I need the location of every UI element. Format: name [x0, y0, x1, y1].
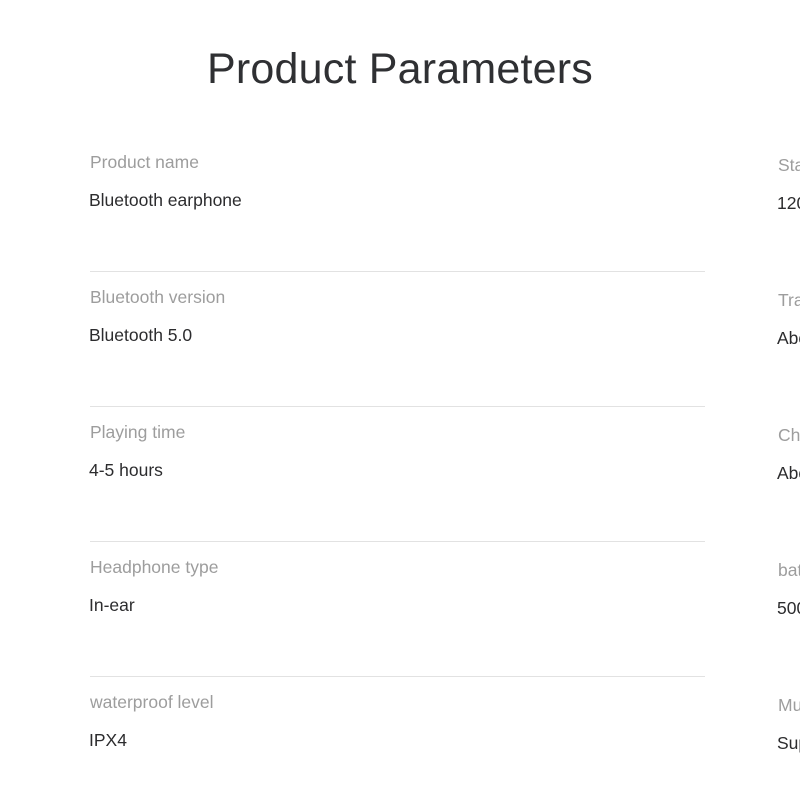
spec-cell-product-name: Product name Bluetooth earphone [0, 136, 345, 212]
spec-label: waterproof level [90, 692, 345, 714]
spec-table: Product name Bluetooth earphone Standby … [0, 136, 800, 811]
spec-label: battery capacity [778, 560, 800, 582]
page-title: Product Parameters [0, 44, 800, 96]
spec-value: 120 hours [777, 193, 800, 215]
spec-value: Bluetooth 5.0 [89, 325, 345, 347]
spec-value: About 1-2 hours [777, 463, 800, 485]
spec-cell-charging-time: Charging time About 1-2 hours [345, 406, 800, 485]
spec-cell-transmission-distance: Transmission distance About 10M [345, 271, 800, 350]
spec-row: Bluetooth version Bluetooth 5.0 Transmis… [0, 271, 800, 406]
spec-cell-playing-time: Playing time 4-5 hours [0, 406, 345, 482]
spec-cell-battery-capacity: battery capacity 500mAh polymer [345, 541, 800, 620]
spec-cell-multifunction: Multifunction Support voice call/For IOS… [345, 676, 800, 755]
spec-cell-waterproof-level: waterproof level IPX4 [0, 676, 345, 752]
spec-row: Product name Bluetooth earphone Standby … [0, 136, 800, 271]
spec-label: Headphone type [90, 557, 345, 579]
spec-cell-bluetooth-version: Bluetooth version Bluetooth 5.0 [0, 271, 345, 347]
spec-row: waterproof level IPX4 Multifunction Supp… [0, 676, 800, 811]
spec-label: Multifunction [778, 695, 800, 717]
spec-row: Headphone type In-ear battery capacity 5… [0, 541, 800, 676]
spec-value: IPX4 [89, 730, 345, 752]
spec-label: Playing time [90, 422, 345, 444]
spec-label: Transmission distance [778, 290, 800, 312]
spec-value: Support voice call/For IOS power display [777, 733, 800, 755]
spec-value: 4-5 hours [89, 460, 345, 482]
product-parameters-page: Product Parameters Product name Bluetoot… [0, 0, 800, 800]
spec-label: Charging time [778, 425, 800, 447]
spec-value: 500mAh polymer [777, 598, 800, 620]
spec-label: Product name [90, 152, 345, 174]
spec-row: Playing time 4-5 hours Charging time Abo… [0, 406, 800, 541]
spec-value: About 10M [777, 328, 800, 350]
spec-label: Standby time [778, 155, 800, 177]
spec-value: Bluetooth earphone [89, 190, 345, 212]
spec-label: Bluetooth version [90, 287, 345, 309]
spec-value: In-ear [89, 595, 345, 617]
spec-cell-standby-time: Standby time 120 hours [345, 136, 800, 215]
spec-cell-headphone-type: Headphone type In-ear [0, 541, 345, 617]
